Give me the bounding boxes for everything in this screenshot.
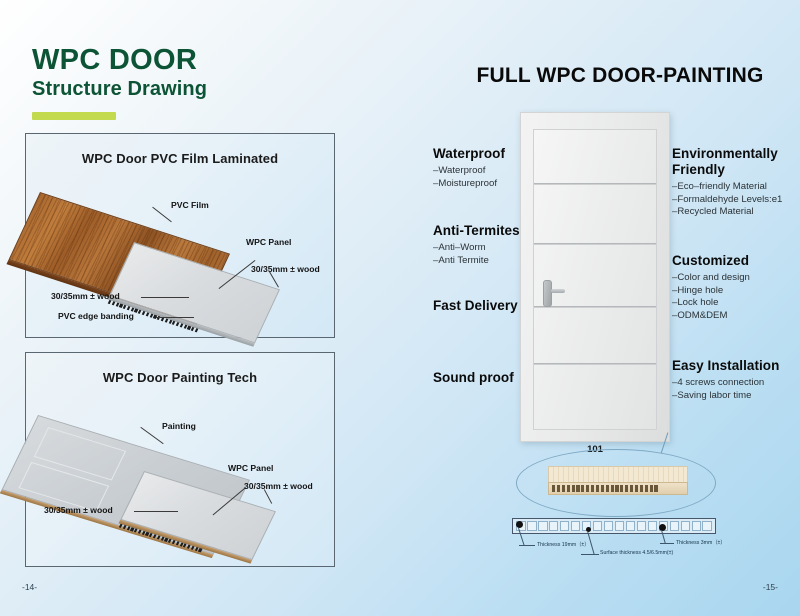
label-edge-banding: PVC edge banding bbox=[58, 311, 134, 321]
feature-title: Environmentally Friendly bbox=[672, 146, 790, 178]
feature-item: –ODM&DEM bbox=[672, 310, 790, 323]
core-panel-front bbox=[548, 482, 688, 495]
feature-item: –4 screws connection bbox=[672, 377, 790, 390]
feature-item: –Anti Termite bbox=[433, 255, 528, 268]
label-painting: Painting bbox=[162, 421, 196, 431]
label-pvc-film: PVC Film bbox=[171, 200, 209, 210]
feature-item: –Eco–friendly Material bbox=[672, 181, 790, 194]
door-groove bbox=[534, 183, 656, 185]
hollow-core-panel bbox=[548, 466, 688, 496]
door-handle-icon bbox=[543, 280, 552, 307]
panel-title: WPC Door Painting Tech bbox=[26, 370, 334, 385]
leader-line bbox=[581, 554, 599, 555]
feature-title: Customized bbox=[672, 253, 790, 269]
cross-section-diagram bbox=[512, 518, 716, 534]
feature-title: Waterproof bbox=[433, 146, 523, 162]
leader-line bbox=[660, 543, 674, 544]
feature-item: –Recycled Material bbox=[672, 206, 790, 219]
feature-title: Easy Installation bbox=[672, 358, 790, 374]
page-title: WPC DOOR bbox=[32, 45, 207, 75]
feature-waterproof: Waterproof –Waterproof –Moistureproof bbox=[433, 146, 523, 190]
panel-painting-tech: WPC Door Painting Tech Painting WPC Pane… bbox=[25, 352, 335, 567]
feature-item: –Formaldehyde Levels:e1 bbox=[672, 194, 790, 207]
brochure-spread: WPC DOOR Structure Drawing WPC Door PVC … bbox=[0, 0, 800, 616]
leader-line bbox=[141, 297, 189, 298]
page-number-left: -14- bbox=[22, 582, 37, 592]
door-groove bbox=[534, 243, 656, 245]
feature-item: –Color and design bbox=[672, 272, 790, 285]
label-surface-thickness: Surface thickness 4.5/6.5mm(±) bbox=[600, 550, 673, 556]
leader-line bbox=[519, 545, 535, 546]
label-thickness-total: Thickness 19mm（±） bbox=[537, 541, 589, 548]
left-page-header: WPC DOOR Structure Drawing bbox=[32, 45, 207, 120]
right-page-heading: FULL WPC DOOR-PAINTING bbox=[460, 64, 780, 88]
label-thickness-wall: Thickness 3mm（±） bbox=[676, 539, 726, 546]
measure-point-total bbox=[516, 521, 523, 528]
label-wpc-panel: WPC Panel bbox=[246, 237, 291, 247]
feature-anti-termites: Anti-Termites –Anti–Worm –Anti Termite bbox=[433, 223, 528, 267]
leader-line bbox=[134, 511, 178, 512]
feature-easy-installation: Easy Installation –4 screws connection –… bbox=[672, 358, 790, 402]
door-groove bbox=[534, 306, 656, 308]
label-wood-right: 30/35mm ± wood bbox=[251, 264, 320, 274]
feature-item: –Moistureproof bbox=[433, 178, 523, 191]
feature-item: –Waterproof bbox=[433, 165, 523, 178]
leader-line bbox=[140, 427, 163, 444]
leader-line bbox=[152, 207, 172, 223]
panel-pvc-film-laminated: WPC Door PVC Film Laminated PVC Film WPC… bbox=[25, 133, 335, 338]
feature-list: –Waterproof –Moistureproof bbox=[433, 165, 523, 191]
feature-title: Fast Delivery bbox=[433, 298, 528, 314]
feature-sound-proof: Sound proof bbox=[433, 370, 528, 386]
feature-item: –Anti–Worm bbox=[433, 242, 528, 255]
label-wood-right: 30/35mm ± wood bbox=[244, 481, 313, 491]
feature-title: Sound proof bbox=[433, 370, 528, 386]
accent-bar bbox=[32, 112, 116, 120]
feature-item: –Saving labor time bbox=[672, 390, 790, 403]
feature-list: –Color and design –Hinge hole –Lock hole… bbox=[672, 272, 790, 323]
door-illustration: 101 bbox=[520, 112, 670, 442]
panel-title: WPC Door PVC Film Laminated bbox=[26, 151, 334, 166]
feature-customized: Customized –Color and design –Hinge hole… bbox=[672, 253, 790, 323]
label-wood-left: 30/35mm ± wood bbox=[51, 291, 120, 301]
page-number-right: -15- bbox=[763, 582, 778, 592]
leader-line bbox=[156, 317, 194, 318]
page-subtitle: Structure Drawing bbox=[32, 78, 207, 101]
feature-item: –Hinge hole bbox=[672, 285, 790, 298]
feature-environmentally-friendly: Environmentally Friendly –Eco–friendly M… bbox=[672, 146, 790, 219]
feature-list: –Eco–friendly Material –Formaldehyde Lev… bbox=[672, 181, 790, 219]
door-leaf bbox=[533, 129, 657, 430]
door-groove bbox=[534, 363, 656, 365]
feature-title: Anti-Termites bbox=[433, 223, 528, 239]
leader-line bbox=[264, 489, 272, 504]
label-wood-left: 30/35mm ± wood bbox=[44, 505, 113, 515]
feature-item: –Lock hole bbox=[672, 297, 790, 310]
core-panel-top bbox=[548, 466, 688, 482]
label-wpc-panel: WPC Panel bbox=[228, 463, 273, 473]
feature-list: –Anti–Worm –Anti Termite bbox=[433, 242, 528, 268]
feature-list: –4 screws connection –Saving labor time bbox=[672, 377, 790, 403]
feature-fast-delivery: Fast Delivery bbox=[433, 298, 528, 314]
